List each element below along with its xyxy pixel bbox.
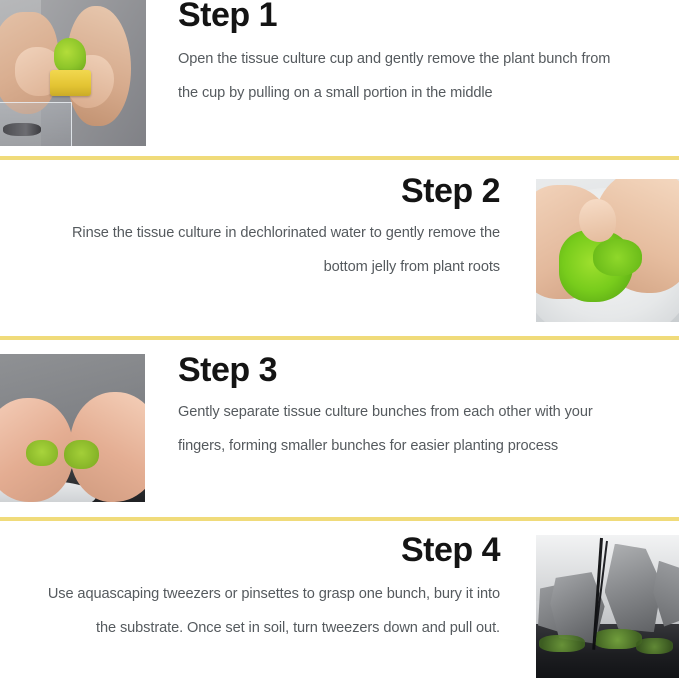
green-plant-shape [54, 38, 86, 73]
divider-line-2 [0, 336, 679, 340]
step-1-title: Step 1 [178, 0, 618, 34]
step-2-title: Step 2 [40, 174, 500, 210]
step-row-4: Step 4 Use aquascaping tweezers or pinse… [0, 527, 679, 684]
step-4-text-block: Step 4 Use aquascaping tweezers or pinse… [40, 527, 500, 645]
step-2-text-block: Step 2 Rinse the tissue culture in dechl… [40, 168, 500, 284]
step-row-2: Step 2 Rinse the tissue culture in dechl… [0, 168, 679, 328]
divider-line-1 [0, 156, 679, 160]
cable-shape [3, 123, 41, 136]
foreground-plant-left-shape [539, 635, 585, 652]
yellow-culture-cup-shape [50, 70, 91, 96]
step-1-text-block: Step 1 Open the tissue culture cup and g… [178, 0, 618, 110]
step-3-text-block: Step 3 Gently separate tissue culture bu… [178, 345, 618, 463]
step-4-description: Use aquascaping tweezers or pinsettes to… [40, 577, 500, 646]
step-1-photo [0, 0, 146, 146]
green-plant-secondary-shape [593, 239, 642, 276]
step-3-photo [0, 354, 145, 502]
step-1-description: Open the tissue culture cup and gently r… [178, 42, 618, 111]
step-3-title: Step 3 [178, 353, 618, 389]
green-plant-right-shape [64, 440, 99, 470]
step-row-1: Step 1 Open the tissue culture cup and g… [0, 0, 679, 152]
step-3-description: Gently separate tissue culture bunches f… [178, 395, 618, 464]
foreground-plant-center-shape [593, 629, 642, 649]
thumb-shape [579, 199, 616, 242]
step-2-description: Rinse the tissue culture in dechlorinate… [40, 216, 500, 285]
green-plant-left-shape [26, 440, 58, 467]
step-4-photo [536, 535, 679, 678]
step-2-photo [536, 179, 679, 322]
foreground-plant-right-shape [636, 638, 673, 654]
step-4-title: Step 4 [40, 533, 500, 569]
step-row-3: Step 3 Gently separate tissue culture bu… [0, 345, 679, 507]
divider-line-3 [0, 517, 679, 521]
tissue-culture-planting-infographic: Step 1 Open the tissue culture cup and g… [0, 0, 679, 684]
